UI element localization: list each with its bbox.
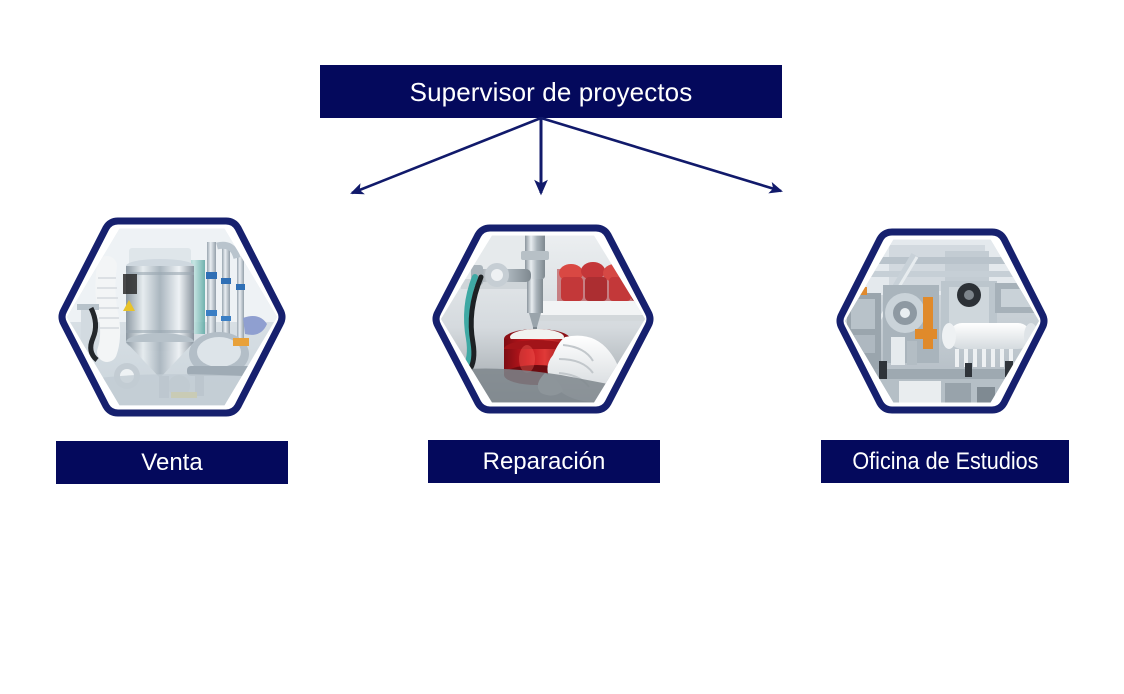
arrow-to-oficina	[541, 118, 781, 191]
caption-reparacion[interactable]: Reparación	[428, 440, 660, 483]
caption-venta[interactable]: Venta	[56, 441, 288, 484]
caption-oficina-label: Oficina de Estudios	[852, 450, 1038, 474]
arrow-to-venta	[352, 118, 541, 193]
root-node-label: Supervisor de proyectos	[410, 79, 693, 105]
caption-reparacion-label: Reparación	[483, 450, 606, 474]
root-node-supervisor[interactable]: Supervisor de proyectos	[320, 65, 782, 118]
diagram-canvas: Supervisor de proyectos	[0, 0, 1124, 694]
hex-node-venta[interactable]	[58, 217, 286, 417]
caption-venta-label: Venta	[141, 451, 202, 475]
hex-node-oficina[interactable]	[836, 228, 1048, 414]
hex-node-reparacion[interactable]	[432, 224, 654, 414]
caption-oficina-de-estudios[interactable]: Oficina de Estudios	[821, 440, 1069, 483]
